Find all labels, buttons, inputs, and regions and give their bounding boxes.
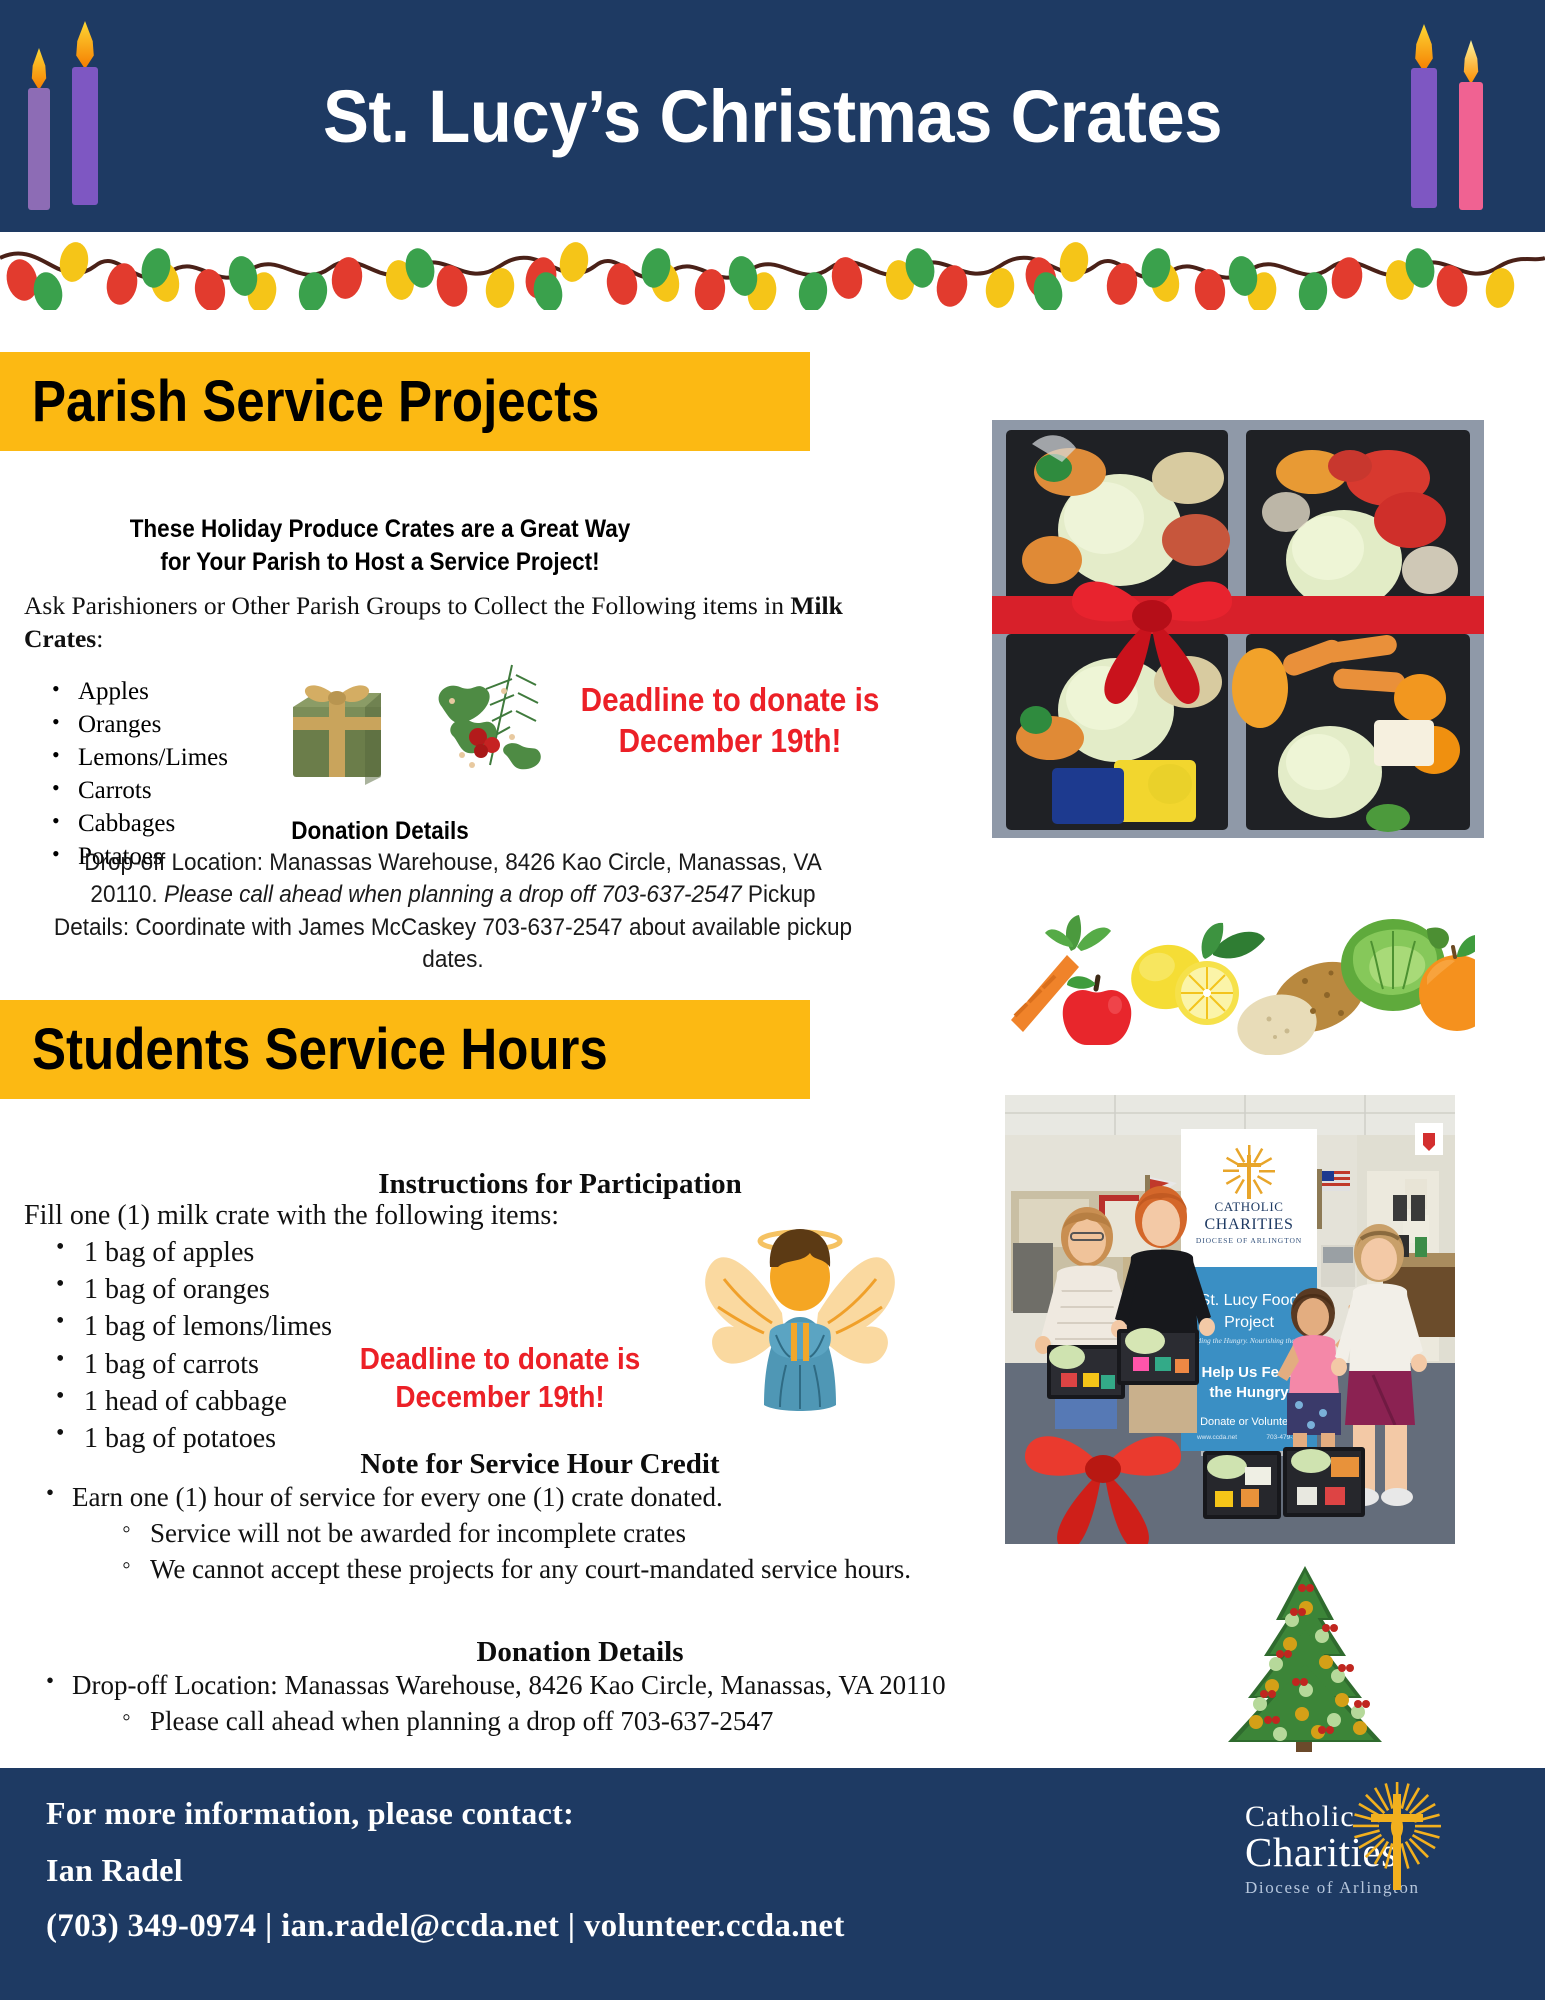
holly-icon — [420, 645, 550, 790]
svg-text:Project: Project — [1224, 1314, 1274, 1331]
section-banner-label: Parish Service Projects — [32, 368, 599, 435]
parish-callahead-text: Please call ahead when planning a drop o… — [164, 881, 742, 908]
list-item: Apples — [44, 675, 304, 708]
parish-intro-c: : — [96, 624, 103, 653]
group-photo: CATHOLIC CHARITIES DIOCESE OF ARLINGTON … — [1002, 1092, 1458, 1547]
contact-name: Ian Radel — [46, 1852, 183, 1889]
purple-candle-icon — [28, 50, 50, 210]
students-deadline-text: Deadline to donate is December 19th! — [320, 1340, 680, 1417]
section-banner-parish: Parish Service Projects — [0, 352, 810, 451]
angel-icon — [690, 1195, 910, 1425]
deadline-line2: December 19th! — [320, 1378, 680, 1416]
svg-text:www.ccda.net: www.ccda.net — [1196, 1434, 1237, 1441]
lemon-icon — [1125, 923, 1265, 1025]
students-donation-sublist: Please call ahead when planning a drop o… — [116, 1704, 1196, 1740]
crucifix-sunburst-icon — [1331, 1780, 1471, 1890]
svg-text:the Hungry: the Hungry — [1209, 1384, 1289, 1401]
list-item: Earn one (1) hour of service for every o… — [36, 1480, 1156, 1588]
parish-subheading: These Holiday Produce Crates are a Great… — [56, 513, 704, 579]
svg-text:St. Lucy Food: St. Lucy Food — [1200, 1292, 1299, 1309]
apple-icon — [1063, 976, 1132, 1045]
list-item: 1 bag of apples — [46, 1234, 466, 1271]
list-item: We cannot accept these projects for any … — [116, 1552, 1156, 1588]
list-item: Oranges — [44, 708, 304, 741]
list-item: Lemons/Limes — [44, 741, 304, 774]
page-header: St. Lucy’s Christmas Crates — [0, 0, 1545, 232]
crates-photo — [992, 420, 1484, 838]
deadline-line1: Deadline to donate is — [541, 680, 919, 721]
catholic-charities-logo: Catholic Charities Diocese of Arlington — [1245, 1800, 1505, 1898]
contact-details[interactable]: (703) 349-0974 | ian.radel@ccda.net | vo… — [46, 1908, 845, 1945]
section-banner-students: Students Service Hours — [0, 1000, 810, 1099]
parish-subheading-line2: for Your Parish to Host a Service Projec… — [56, 546, 704, 579]
note-list: Earn one (1) hour of service for every o… — [36, 1480, 1156, 1588]
parish-deadline-text: Deadline to donate is December 19th! — [541, 680, 919, 762]
contact-prompt: For more information, please contact: — [46, 1795, 574, 1832]
students-dropoff-text: Drop-off Location: Manassas Warehouse, 8… — [72, 1670, 946, 1700]
note-sublist: Service will not be awarded for incomple… — [116, 1516, 1156, 1588]
parish-donation-details: Drop-off Location: Manassas Warehouse, 8… — [53, 847, 853, 976]
parish-donation-heading: Donation Details — [191, 817, 569, 846]
svg-text:Donate or Volunteer: Donate or Volunteer — [1200, 1416, 1298, 1428]
svg-text:CATHOLIC: CATHOLIC — [1214, 1199, 1283, 1214]
deadline-line1: Deadline to donate is — [320, 1340, 680, 1378]
christmas-lights-icon — [0, 232, 1545, 310]
list-item: 1 bag of oranges — [46, 1271, 466, 1308]
svg-text:DIOCESE OF ARLINGTON: DIOCESE OF ARLINGTON — [1196, 1236, 1302, 1245]
parish-subheading-line1: These Holiday Produce Crates are a Great… — [56, 513, 704, 546]
students-donation-list: Drop-off Location: Manassas Warehouse, 8… — [36, 1668, 1196, 1740]
deadline-line2: December 19th! — [541, 721, 919, 762]
note-main-text: Earn one (1) hour of service for every o… — [72, 1482, 723, 1512]
list-item: Service will not be awarded for incomple… — [116, 1516, 1156, 1552]
page-title: St. Lucy’s Christmas Crates — [54, 0, 1491, 232]
fill-crate-instruction: Fill one (1) milk crate with the followi… — [24, 1200, 784, 1232]
note-heading: Note for Service Hour Credit — [140, 1448, 940, 1481]
list-item: Drop-off Location: Manassas Warehouse, 8… — [36, 1668, 1196, 1740]
list-item: Please call ahead when planning a drop o… — [116, 1704, 1196, 1740]
svg-text:CHARITIES: CHARITIES — [1205, 1216, 1294, 1233]
section-banner-label: Students Service Hours — [32, 1016, 608, 1083]
students-donation-heading: Donation Details — [180, 1636, 980, 1669]
produce-icons-row — [975, 885, 1475, 1055]
list-item: Carrots — [44, 774, 304, 807]
christmas-tree-icon — [1210, 1558, 1400, 1758]
gift-box-icon — [277, 655, 397, 785]
parish-intro-a: Ask Parishioners or Other Parish Groups … — [24, 591, 790, 620]
